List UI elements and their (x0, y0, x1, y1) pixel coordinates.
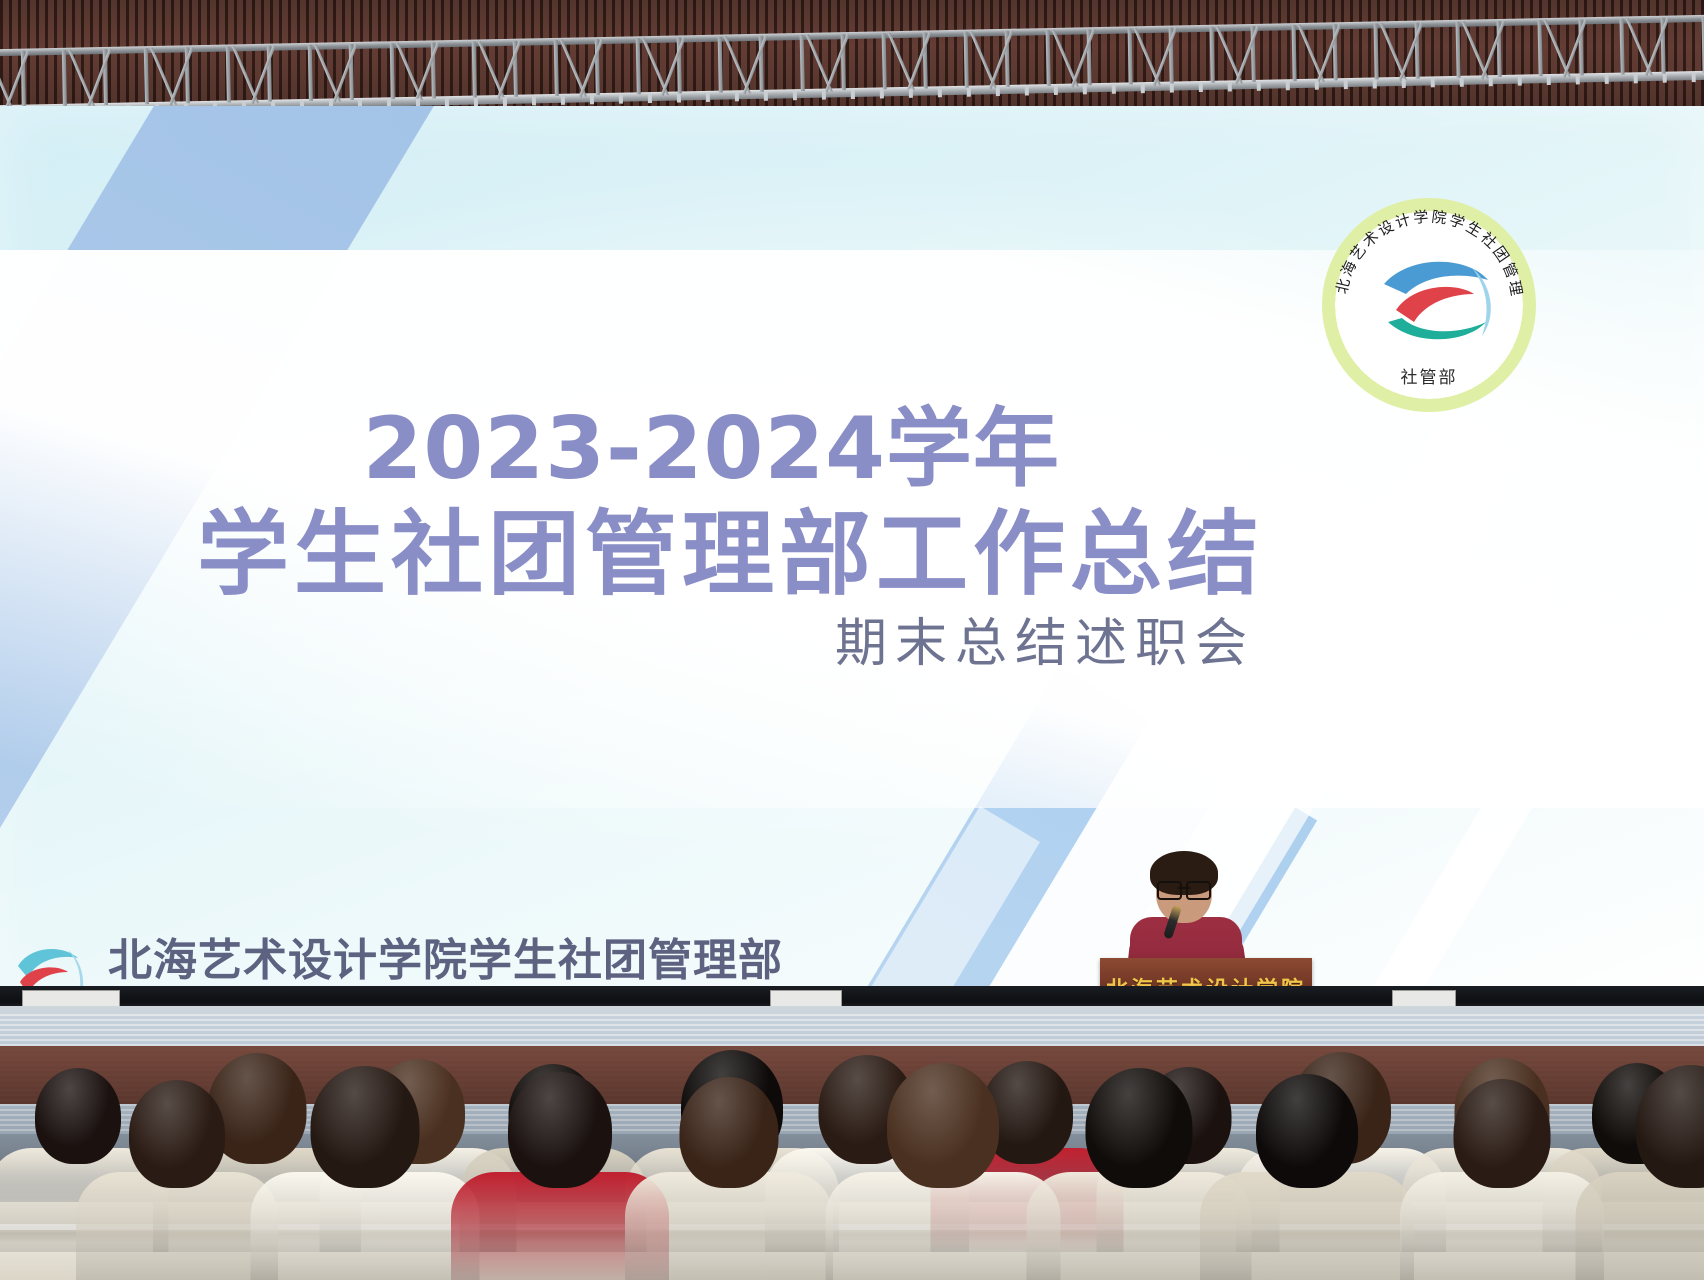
auditorium-scene: 北海艺术设计学院学生社团管理部 社管部 2023-2024学年 学生社团管理部工… (0, 0, 1704, 1280)
seated-audience-back-of-heads (0, 1000, 1704, 1280)
audience-member (625, 1061, 833, 1280)
emblem-inner-text: 社管部 (1322, 363, 1536, 388)
slide-title: 学生社团管理部工作总结 (0, 501, 1264, 610)
audience-member (1575, 1049, 1704, 1280)
slide-brand-name-cn: 北海艺术设计学院学生社团管理部 (108, 938, 783, 984)
audience-member (250, 1050, 479, 1280)
audience-member (76, 1064, 278, 1280)
slide-year-line: 2023-2024学年 (0, 406, 1060, 492)
person-speaking-icon (1126, 851, 1246, 971)
audience-member (825, 1047, 1060, 1280)
audience-member (1200, 1058, 1414, 1280)
emblem-ring-text: 北海艺术设计学院学生社团管理部 (1322, 198, 1526, 299)
circular-club-emblem-icon: 北海艺术设计学院学生社团管理部 社管部 (1322, 198, 1536, 412)
projection-screen: 北海艺术设计学院学生社团管理部 社管部 2023-2024学年 学生社团管理部工… (0, 106, 1704, 1006)
audience-member (1400, 1063, 1604, 1280)
svg-text:北海艺术设计学院学生社团管理部: 北海艺术设计学院学生社团管理部 (1322, 198, 1526, 299)
slide-subtitle: 期末总结述职会 (0, 601, 1255, 676)
eyeglasses-icon (1157, 881, 1211, 896)
